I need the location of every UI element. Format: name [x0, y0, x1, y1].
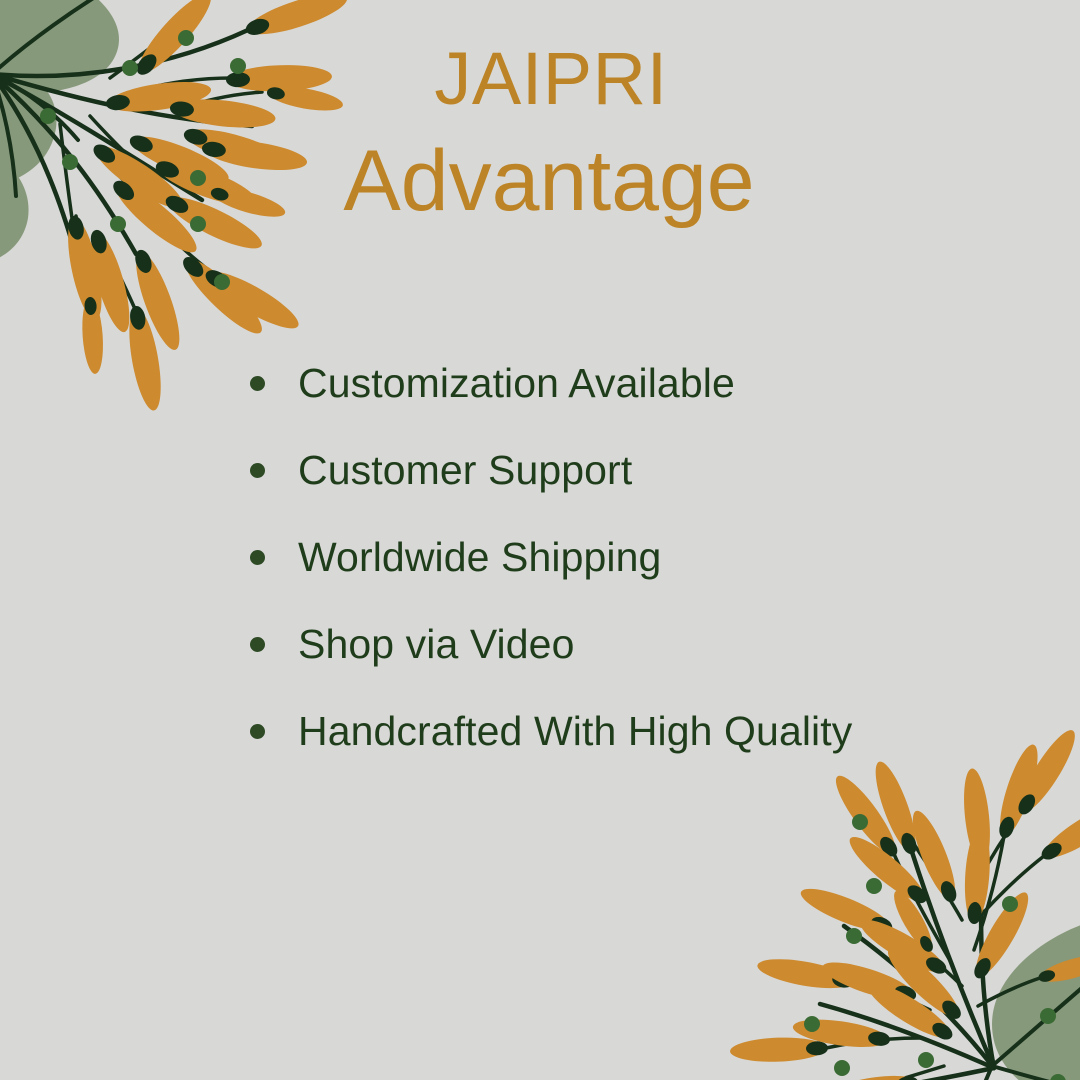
advantage-list: Customization Available Customer Support…: [250, 340, 1010, 775]
page-title: JAIPRI Advantage: [0, 42, 1080, 224]
bullet-icon: [250, 724, 265, 739]
list-item: Shop via Video: [250, 601, 1010, 688]
brand-name: JAIPRI: [22, 42, 1080, 116]
poster-canvas: JAIPRI Advantage Customization Available…: [0, 0, 1080, 1080]
bullet-icon: [250, 463, 265, 478]
list-item: Customization Available: [250, 340, 1010, 427]
list-item: Handcrafted With High Quality: [250, 688, 1010, 775]
bullet-icon: [250, 637, 265, 652]
list-item-label: Worldwide Shipping: [298, 534, 661, 581]
bullet-icon: [250, 550, 265, 565]
list-item: Customer Support: [250, 427, 1010, 514]
list-item-label: Customer Support: [298, 447, 632, 494]
title-subline: Advantage: [18, 138, 1080, 224]
list-item-label: Customization Available: [298, 360, 735, 407]
list-item: Worldwide Shipping: [250, 514, 1010, 601]
bullet-icon: [250, 376, 265, 391]
list-item-label: Handcrafted With High Quality: [298, 708, 852, 755]
list-item-label: Shop via Video: [298, 621, 574, 668]
